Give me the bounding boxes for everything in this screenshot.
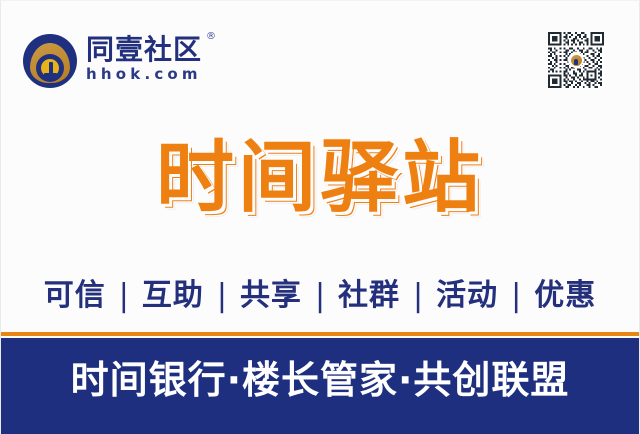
tagline-item-3: 社群	[338, 279, 400, 313]
headline-text: 时间驿站	[156, 139, 484, 217]
community-dome-circle-logo-icon	[23, 34, 77, 88]
brand-domain: hhok.com	[86, 66, 202, 83]
tagline-separator: |	[302, 278, 338, 313]
footer-bar: 时间银行·楼长管家·共创联盟	[1, 338, 639, 434]
qr-code-icon[interactable]	[548, 32, 604, 88]
tagline-separator: |	[106, 278, 142, 313]
tagline-separator: |	[400, 278, 436, 313]
tagline-separator: |	[498, 278, 534, 313]
tagline-separator: |	[204, 278, 240, 313]
registered-trademark-icon: ®	[206, 32, 216, 42]
brand-lockup: 同壹社区 ® hhok.com	[23, 34, 202, 88]
brand-text-block: 同壹社区 ® hhok.com	[86, 34, 202, 83]
tagline-item-4: 活动	[436, 279, 498, 313]
tagline-item-0: 可信	[44, 279, 106, 313]
qr-center-brand-dome-icon	[568, 52, 584, 68]
brand-name-cn: 同壹社区	[86, 35, 202, 64]
tagline-item-2: 共享	[240, 279, 302, 313]
qr-dome-shape	[571, 55, 582, 66]
poster-canvas: 同壹社区 ® hhok.com	[0, 0, 640, 434]
tagline-item-5: 优惠	[534, 279, 596, 313]
page-title: 时间驿站	[1, 139, 639, 217]
footer-text: 时间银行·楼长管家·共创联盟	[71, 360, 570, 402]
tagline-item-1: 互助	[142, 279, 204, 313]
logo-stem-foot	[44, 73, 57, 77]
tagline-row: 可信 | 互助 | 共享 | 社群 | 活动 | 优惠	[1, 279, 639, 313]
